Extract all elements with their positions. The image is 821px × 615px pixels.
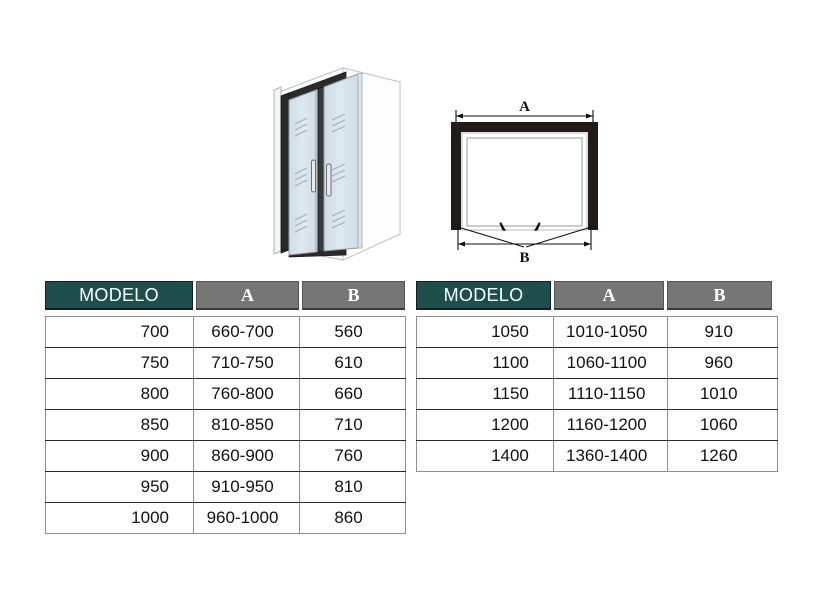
cell-b: 960	[668, 348, 778, 379]
cell-modelo: 1100	[417, 348, 554, 379]
door-handle-right	[327, 164, 332, 196]
cell-modelo: 850	[46, 410, 194, 441]
left-wall-post	[274, 87, 281, 254]
spec-table-body-right: 10501010-105091011001060-110096011501110…	[416, 316, 778, 472]
cell-a: 810-850	[194, 410, 300, 441]
cell-a: 1360-1400	[553, 441, 668, 472]
table-body: 10501010-105091011001060-110096011501110…	[417, 317, 778, 472]
column-header-modelo: MODELO	[416, 281, 551, 310]
table-row: 750710-750610	[46, 348, 406, 379]
cell-modelo: 950	[46, 472, 194, 503]
spec-table-small-sizes: MODELO A B 700660-700560750710-750610800…	[45, 281, 405, 534]
table-row: 11501110-11501010	[417, 379, 778, 410]
cell-a: 710-750	[194, 348, 300, 379]
cell-b: 560	[300, 317, 406, 348]
cell-a: 1160-1200	[553, 410, 668, 441]
spec-table-body-left: 700660-700560750710-750610800760-8006608…	[45, 316, 406, 534]
column-header-a: A	[196, 281, 299, 310]
plan-glass-outline	[467, 138, 582, 226]
cell-a: 660-700	[194, 317, 300, 348]
cell-a: 860-900	[194, 441, 300, 472]
dimension-b-label: B	[519, 250, 529, 266]
cell-modelo: 1400	[417, 441, 554, 472]
cell-b: 1060	[668, 410, 778, 441]
right-door-edge	[358, 73, 362, 248]
shower-enclosure-isometric-view	[248, 52, 428, 267]
table-row: 950910-950810	[46, 472, 406, 503]
cell-b: 1010	[668, 379, 778, 410]
cell-a: 960-1000	[194, 503, 300, 534]
table-row: 10501010-1050910	[417, 317, 778, 348]
table-row: 12001160-12001060	[417, 410, 778, 441]
cell-modelo: 1000	[46, 503, 194, 534]
cell-modelo: 1050	[417, 317, 554, 348]
table-body: 700660-700560750710-750610800760-8006608…	[46, 317, 406, 534]
table-row: 11001060-1100960	[417, 348, 778, 379]
dimension-a-label: A	[519, 99, 530, 115]
column-header-modelo: MODELO	[45, 281, 193, 310]
cell-modelo: 1200	[417, 410, 554, 441]
cell-modelo: 900	[46, 441, 194, 472]
table-row: 850810-850710	[46, 410, 406, 441]
cell-b: 710	[300, 410, 406, 441]
column-header-b: B	[667, 281, 772, 310]
column-header-b: B	[302, 281, 405, 310]
table-header-row: MODELO A B	[416, 281, 778, 310]
cell-b: 660	[300, 379, 406, 410]
cell-modelo: 1150	[417, 379, 554, 410]
cell-modelo: 700	[46, 317, 194, 348]
table-row: 14001360-14001260	[417, 441, 778, 472]
column-header-a: A	[554, 281, 664, 310]
cell-b: 910	[668, 317, 778, 348]
table-header-row: MODELO A B	[45, 281, 405, 310]
cell-b: 760	[300, 441, 406, 472]
cell-modelo: 750	[46, 348, 194, 379]
cell-b: 860	[300, 503, 406, 534]
cell-a: 760-800	[194, 379, 300, 410]
table-row: 700660-700560	[46, 317, 406, 348]
cell-a: 1060-1100	[553, 348, 668, 379]
table-row: 900860-900760	[46, 441, 406, 472]
cell-b: 610	[300, 348, 406, 379]
technical-drawings-area: A B	[0, 0, 821, 270]
cell-b: 810	[300, 472, 406, 503]
table-row: 1000960-1000860	[46, 503, 406, 534]
cell-b: 1260	[668, 441, 778, 472]
cell-a: 1110-1150	[553, 379, 668, 410]
shower-enclosure-plan-view: A B	[438, 72, 623, 267]
center-mullion	[318, 87, 324, 252]
cell-modelo: 800	[46, 379, 194, 410]
cell-a: 1010-1050	[553, 317, 668, 348]
door-handle-left	[312, 160, 316, 192]
cell-a: 910-950	[194, 472, 300, 503]
spec-table-large-sizes: MODELO A B 10501010-105091011001060-1100…	[416, 281, 778, 472]
table-row: 800760-800660	[46, 379, 406, 410]
